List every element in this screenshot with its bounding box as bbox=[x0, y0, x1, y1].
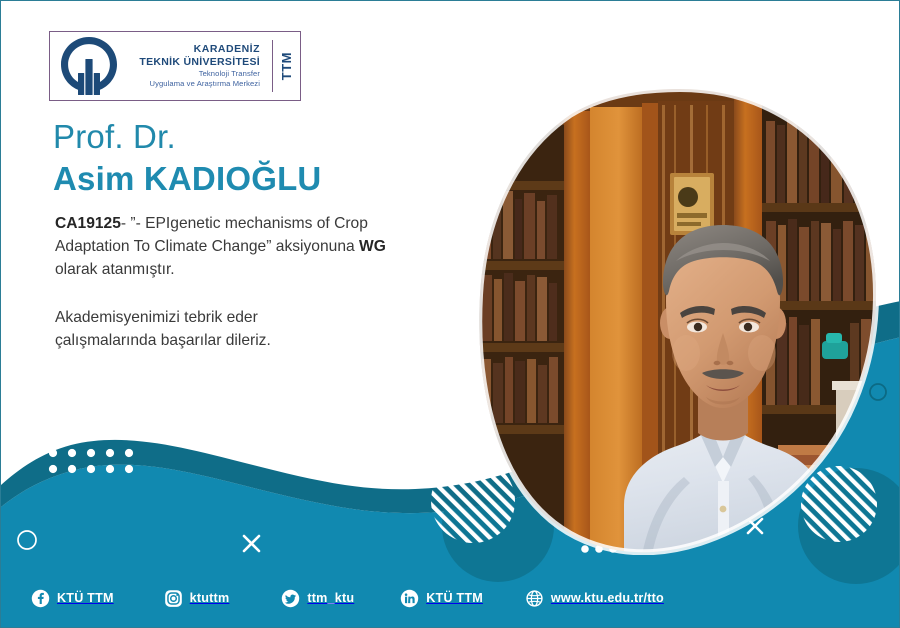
instagram-icon bbox=[164, 589, 183, 608]
title-prefix: Prof. Dr. bbox=[53, 119, 321, 156]
social-link-instagram[interactable]: ktuttm bbox=[164, 589, 230, 608]
page-title: Prof. Dr. Asim KADIOĞLU bbox=[53, 119, 321, 199]
facebook-icon bbox=[31, 589, 50, 608]
twitter-icon bbox=[281, 589, 300, 608]
ktu-ttm-logo: KARADENİZ TEKNİK ÜNİVERSİTESİ Teknoloji … bbox=[49, 31, 301, 101]
website-url: www.ktu.edu.tr/tto bbox=[551, 591, 664, 605]
social-link-facebook[interactable]: KTÜ TTM bbox=[31, 589, 114, 608]
instagram-handle: ktuttm bbox=[190, 591, 230, 605]
logo-line-3: Teknoloji Transfer bbox=[139, 69, 260, 79]
social-link-linkedin[interactable]: KTÜ TTM bbox=[400, 589, 483, 608]
logo-text-block: KARADENİZ TEKNİK ÜNİVERSİTESİ Teknoloji … bbox=[122, 32, 264, 100]
action-code: CA19125 bbox=[55, 215, 121, 232]
twitter-handle: ttm_ktu bbox=[307, 591, 354, 605]
linkedin-handle: KTÜ TTM bbox=[426, 591, 483, 605]
logo-vertical-ttm: TTM bbox=[279, 52, 294, 80]
academic-name: Asim KADIOĞLU bbox=[53, 158, 321, 199]
linkedin-icon bbox=[400, 589, 419, 608]
logo-line-1: KARADENİZ bbox=[139, 43, 260, 55]
website-link[interactable]: www.ktu.edu.tr/tto bbox=[525, 589, 664, 608]
congrats-line-2: çalışmalarında başarılar dileriz. bbox=[55, 330, 355, 353]
announcement-role: WG bbox=[359, 238, 386, 255]
logo-line-4: Uygulama ve Araştırma Merkezi bbox=[139, 79, 260, 89]
congrats-line-1: Akademisyenimizi tebrik eder bbox=[55, 307, 355, 330]
announcement-tail: olarak atanmıştır. bbox=[55, 261, 175, 278]
congratulations-text: Akademisyenimizi tebrik eder çalışmaları… bbox=[55, 307, 355, 353]
logo-divider bbox=[272, 40, 273, 92]
social-footer: KTÜ TTM ktuttm ttm_ktu bbox=[1, 569, 900, 627]
social-link-twitter[interactable]: ttm_ktu bbox=[281, 589, 354, 608]
poster-canvas: KARADENİZ TEKNİK ÜNİVERSİTESİ Teknoloji … bbox=[0, 0, 900, 628]
announcement-text: CA19125- ”- EPIgenetic mechanisms of Cro… bbox=[55, 213, 405, 281]
striped-circle-small-mid bbox=[305, 431, 339, 465]
outline-circle-1 bbox=[398, 401, 417, 420]
logo-line-2: TEKNİK ÜNİVERSİTESİ bbox=[139, 56, 260, 68]
ktu-circular-emblem-icon bbox=[56, 35, 122, 97]
portrait-photo bbox=[474, 85, 879, 555]
portrait-blob-svg bbox=[474, 85, 879, 555]
facebook-handle: KTÜ TTM bbox=[57, 591, 114, 605]
globe-icon bbox=[525, 589, 544, 608]
announcement-mid: aksiyonuna bbox=[276, 238, 355, 255]
